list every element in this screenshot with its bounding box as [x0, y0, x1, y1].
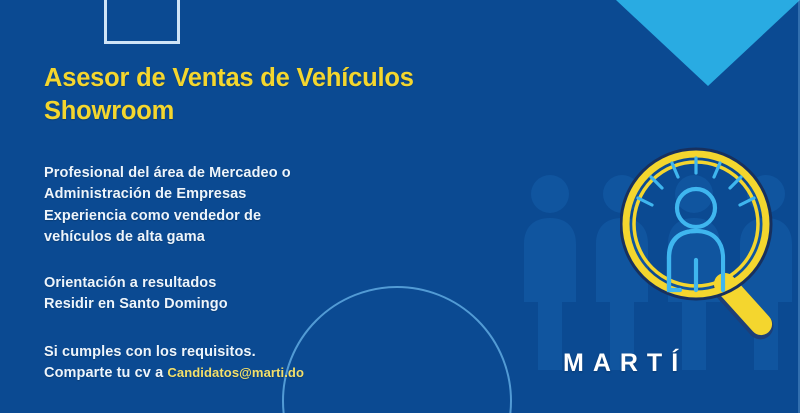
headline-line-1: Asesor de Ventas de Vehículos	[44, 64, 414, 92]
requirements-block: Profesional del área de Mercadeo o Admin…	[44, 163, 514, 248]
requirement-line-3: Experiencia como vendedor de	[44, 206, 514, 227]
requirement-line-2: Administración de Empresas	[44, 184, 514, 205]
qualities-block: Orientación a resultados Residir en Sant…	[44, 273, 514, 315]
magnifying-glass-icon	[620, 140, 800, 350]
cta-line-2: Comparte tu cv a Candidatos@marti.do	[44, 363, 514, 384]
text-column: Asesor de Ventas de Vehículos Showroom P…	[44, 62, 514, 385]
marti-logo: MARTÍ	[563, 349, 687, 378]
job-posting-poster: Asesor de Ventas de Vehículos Showroom P…	[0, 0, 800, 413]
cta-prefix: Comparte tu cv a	[44, 365, 167, 381]
cta-line-1: Si cumples con los requisitos.	[44, 342, 514, 363]
requirement-line-1: Profesional del área de Mercadeo o	[44, 163, 514, 184]
square-outline-shape	[104, 0, 180, 44]
contact-email[interactable]: Candidatos@marti.do	[167, 365, 304, 380]
quality-line-1: Orientación a resultados	[44, 273, 514, 294]
requirement-line-4: vehículos de alta gama	[44, 227, 514, 248]
call-to-action-block: Si cumples con los requisitos. Comparte …	[44, 342, 514, 384]
headline-line-2: Showroom	[44, 97, 174, 125]
page-title: Asesor de Ventas de Vehículos Showroom	[44, 62, 514, 127]
quality-line-2: Residir en Santo Domingo	[44, 294, 514, 315]
triangle-down-shape	[616, 0, 800, 86]
person-icon-in-lens	[669, 189, 723, 290]
